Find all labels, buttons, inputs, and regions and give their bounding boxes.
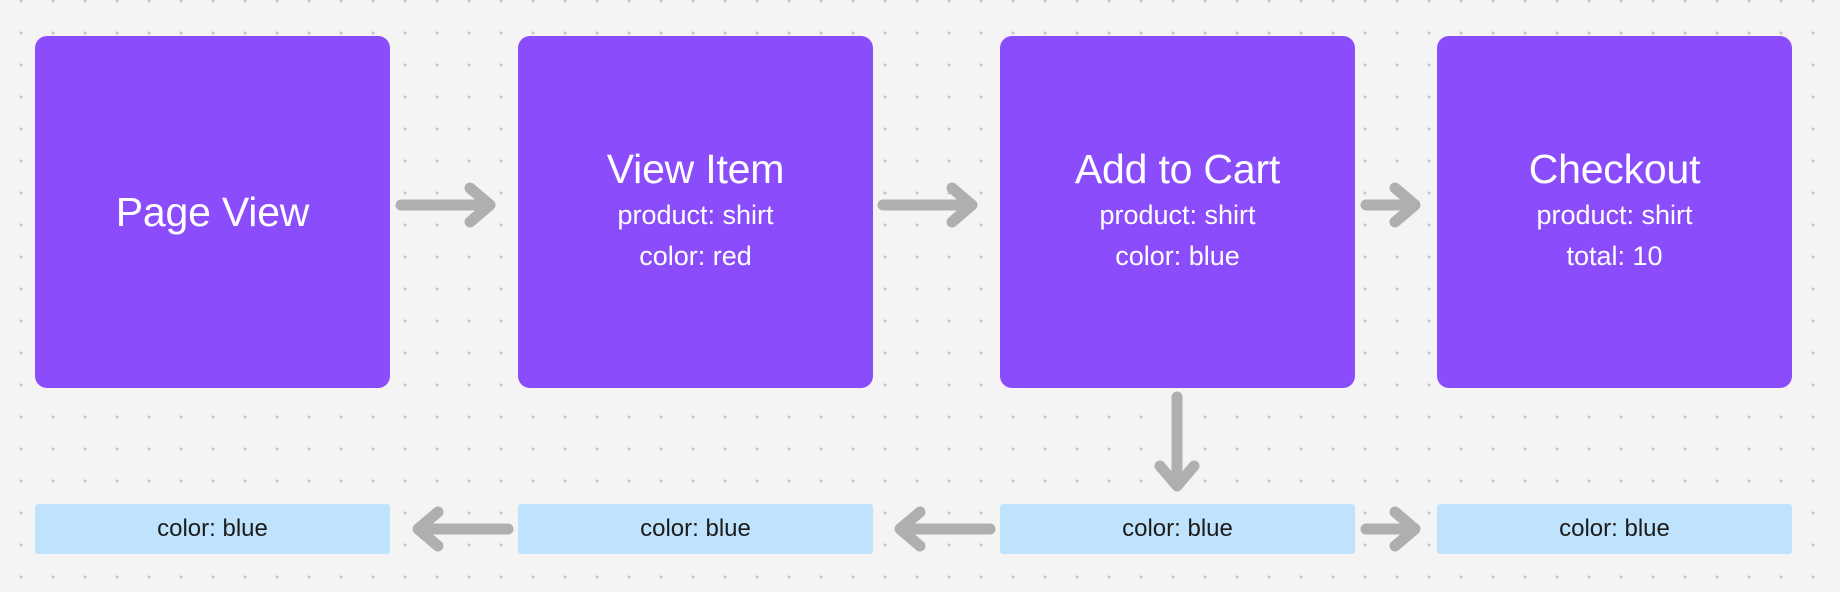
chip-label: color: blue: [157, 515, 268, 543]
node-properties: product: shirt total: 10: [1536, 195, 1692, 277]
node-title: Add to Cart: [1075, 147, 1280, 191]
node-properties: product: shirt color: blue: [1099, 195, 1255, 277]
arrow-page-view-to-view-item: [398, 185, 508, 245]
chip-label: color: blue: [1122, 515, 1233, 543]
node-title: Page View: [116, 190, 309, 234]
node-page-view[interactable]: Page View: [35, 36, 390, 388]
node-title: Checkout: [1529, 147, 1701, 191]
node-checkout[interactable]: Checkout product: shirt total: 10: [1437, 36, 1792, 388]
chip-label: color: blue: [640, 515, 751, 543]
arrow-chip3-to-chip4: [1363, 509, 1473, 569]
node-property: color: blue: [1115, 236, 1240, 277]
arrow-add-to-cart-to-checkout: [1363, 185, 1473, 245]
node-property: color: red: [639, 236, 752, 277]
arrow-chip2-to-chip1: [398, 509, 508, 569]
chip-label: color: blue: [1559, 515, 1670, 543]
node-property: product: shirt: [1099, 195, 1255, 236]
chip-color-blue-1[interactable]: color: blue: [35, 504, 390, 554]
node-title: View Item: [607, 147, 784, 191]
node-properties: product: shirt color: red: [617, 195, 773, 277]
arrow-chip3-to-chip2: [880, 509, 990, 569]
node-property: product: shirt: [617, 195, 773, 236]
chip-color-blue-4[interactable]: color: blue: [1437, 504, 1792, 554]
node-view-item[interactable]: View Item product: shirt color: red: [518, 36, 873, 388]
chip-color-blue-2[interactable]: color: blue: [518, 504, 873, 554]
arrow-add-to-cart-to-chip: [1152, 394, 1212, 474]
node-property: total: 10: [1566, 236, 1662, 277]
node-property: product: shirt: [1536, 195, 1692, 236]
node-add-to-cart[interactable]: Add to Cart product: shirt color: blue: [1000, 36, 1355, 388]
diagram-canvas[interactable]: Page View View Item product: shirt color…: [0, 0, 1840, 592]
arrow-view-item-to-add-to-cart: [880, 185, 990, 245]
chip-color-blue-3[interactable]: color: blue: [1000, 504, 1355, 554]
